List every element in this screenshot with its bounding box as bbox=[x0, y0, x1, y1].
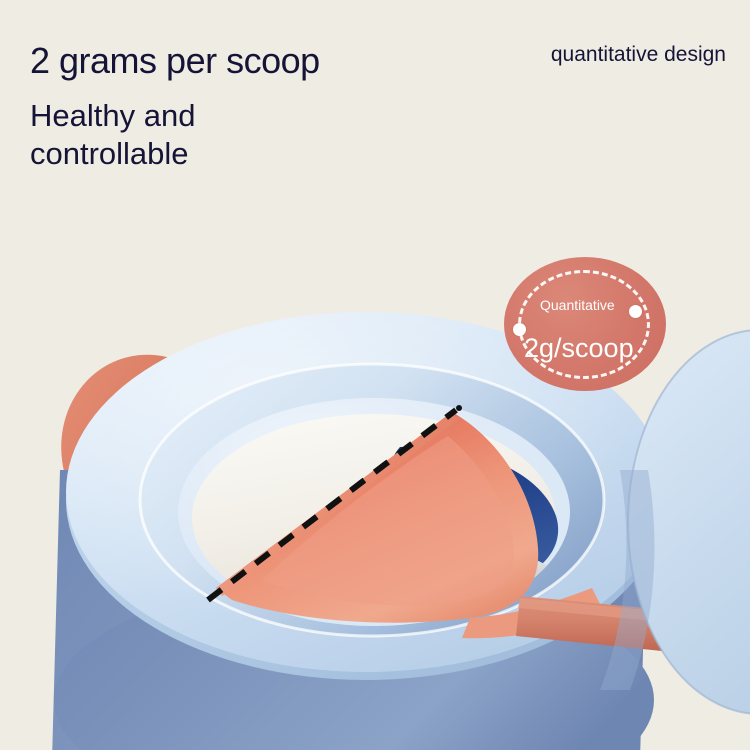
badge-label: Quantitative bbox=[540, 298, 624, 314]
page-subtitle: Healthy and controllable bbox=[30, 97, 360, 173]
badge-dot-icon-right bbox=[629, 305, 642, 318]
page-title: 2 grams per scoop bbox=[30, 42, 320, 80]
corner-caption: quantitative design bbox=[551, 43, 726, 67]
product-infographic-page: 2 grams per scoop Healthy and controllab… bbox=[0, 0, 750, 750]
quantitative-badge: Quantitative 2g/scoop bbox=[504, 257, 666, 391]
badge-value: 2g/scoop bbox=[524, 333, 634, 364]
